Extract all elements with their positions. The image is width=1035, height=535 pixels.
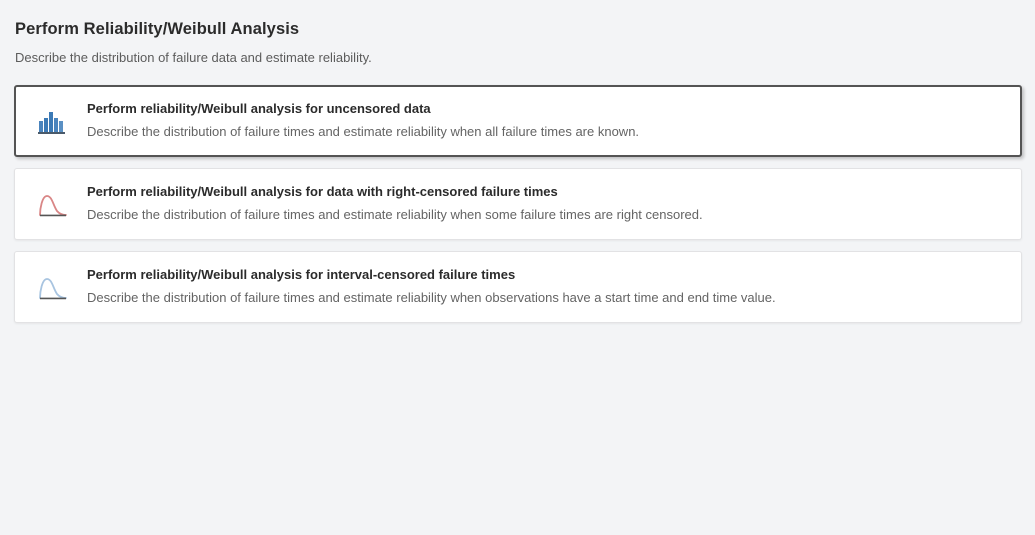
- page-title: Perform Reliability/Weibull Analysis: [15, 20, 1035, 40]
- option-card-body: Perform reliability/Weibull analysis for…: [87, 266, 1003, 307]
- option-card-body: Perform reliability/Weibull analysis for…: [87, 100, 1003, 141]
- analysis-option-list: Perform reliability/Weibull analysis for…: [0, 85, 1035, 323]
- option-heading: Perform reliability/Weibull analysis for…: [87, 184, 1003, 201]
- page-subtitle: Describe the distribution of failure dat…: [15, 50, 1035, 66]
- option-card-right-censored[interactable]: Perform reliability/Weibull analysis for…: [14, 168, 1022, 240]
- histogram-icon: [31, 102, 75, 142]
- option-card-body: Perform reliability/Weibull analysis for…: [87, 183, 1003, 224]
- distribution-curve-red-icon: [31, 185, 75, 225]
- option-description: Describe the distribution of failure tim…: [87, 207, 1003, 224]
- page-header: Perform Reliability/Weibull Analysis Des…: [0, 0, 1035, 65]
- option-heading: Perform reliability/Weibull analysis for…: [87, 101, 1003, 118]
- option-card-uncensored[interactable]: Perform reliability/Weibull analysis for…: [14, 85, 1022, 157]
- reliability-weibull-analysis-page: Perform Reliability/Weibull Analysis Des…: [0, 0, 1035, 535]
- option-description: Describe the distribution of failure tim…: [87, 290, 1003, 307]
- option-description: Describe the distribution of failure tim…: [87, 124, 1003, 141]
- distribution-curve-blue-icon: [31, 268, 75, 308]
- option-card-interval-censored[interactable]: Perform reliability/Weibull analysis for…: [14, 251, 1022, 323]
- option-heading: Perform reliability/Weibull analysis for…: [87, 267, 1003, 284]
